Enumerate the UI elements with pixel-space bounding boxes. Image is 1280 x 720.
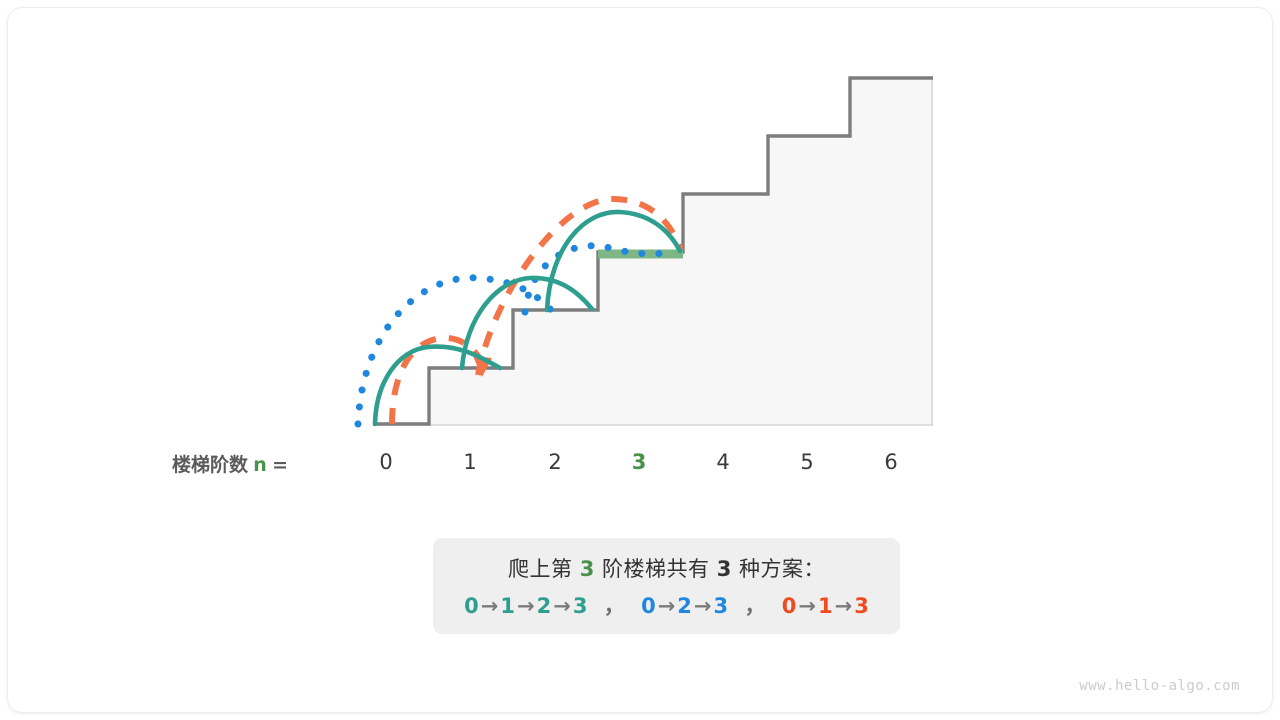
solution-3: 0→1→3 [782,594,869,618]
solution-separator-2: ， [735,594,774,618]
solution-2-step-2: 3 [714,594,729,618]
arrow-icon: → [833,594,855,618]
caption-box: 爬上第 3 阶楼梯共有 3 种方案： 0→1→2→3 ， 0→2→3 ， 0→1… [433,538,900,634]
caption-line-2: 0→1→2→3 ， 0→2→3 ， 0→1→3 [464,590,869,620]
solution-3-step-0: 0 [782,594,797,618]
solution-1-step-1: 1 [500,594,515,618]
axis-equals: = [272,454,288,476]
axis-label: 楼梯阶数 n = [172,450,288,477]
solution-separator-1: ， [595,594,634,618]
tick-1: 1 [463,450,476,474]
watermark: www.hello-algo.com [1079,678,1240,694]
tick-5: 5 [800,450,813,474]
caption-mid: 阶楼梯共有 [602,557,710,581]
tick-2: 2 [548,450,561,474]
tick-0: 0 [379,450,392,474]
axis-label-text: 楼梯阶数 [172,455,248,476]
solution-2: 0→2→3 [641,594,735,618]
caption-post: 种方案： [739,557,825,581]
caption-pre: 爬上第 [508,557,573,581]
arrow-icon: → [479,594,501,618]
tick-6: 6 [884,450,897,474]
arrow-icon: → [692,594,714,618]
solution-2-step-0: 0 [641,594,656,618]
arrow-icon: → [796,594,818,618]
tick-3: 3 [632,450,647,474]
solution-3-step-1: 1 [818,594,833,618]
caption-count-value: 3 [717,557,732,581]
solution-1-step-2: 2 [537,594,552,618]
axis-variable: n [253,454,267,476]
solution-1-step-0: 0 [464,594,479,618]
caption-n-value: 3 [580,557,595,581]
caption-line-1: 爬上第 3 阶楼梯共有 3 种方案： [508,553,825,583]
solution-3-step-2: 3 [854,594,869,618]
arrow-icon: → [551,594,573,618]
solution-2-step-1: 2 [677,594,692,618]
solution-1-step-3: 3 [573,594,588,618]
arrow-icon: → [656,594,678,618]
figure-canvas: 楼梯阶数 n = 0 1 2 3 4 5 6 爬上第 3 阶楼梯共有 3 种方案… [0,0,1280,720]
arrow-icon: → [515,594,537,618]
solution-1: 0→1→2→3 [464,594,595,618]
tick-4: 4 [716,450,729,474]
